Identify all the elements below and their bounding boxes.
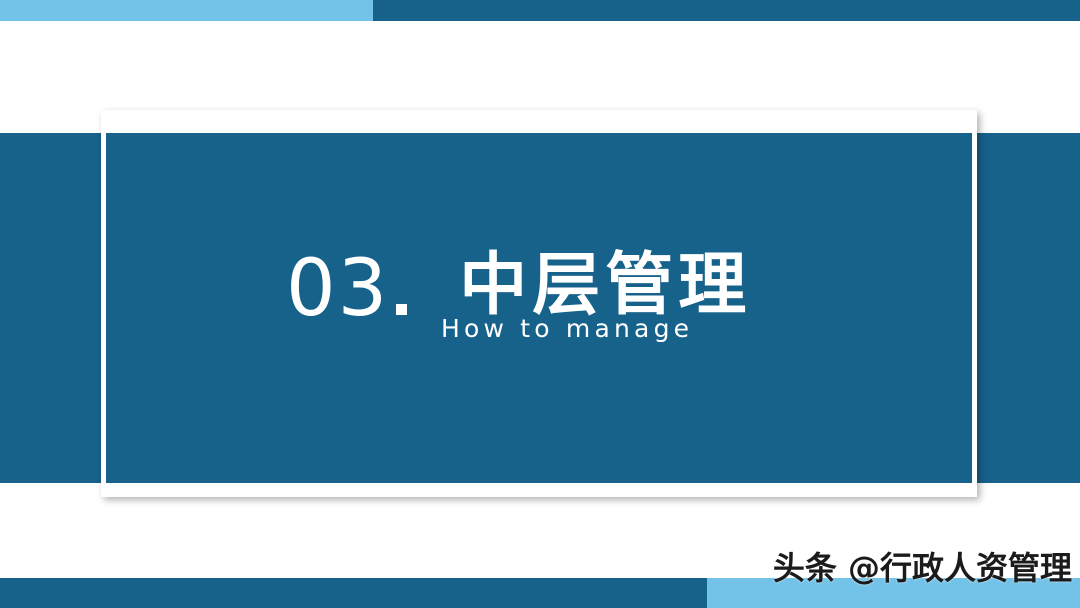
bottom-bar-dark-segment	[0, 578, 707, 608]
top-bar-light-segment	[0, 0, 373, 21]
section-outline-frame	[101, 110, 977, 497]
top-decor-bar	[0, 0, 1080, 21]
slide-canvas: 03 中层管理 How to manage 头条 @行政人资管理	[0, 0, 1080, 608]
watermark-text: 头条 @行政人资管理	[773, 552, 1072, 584]
top-bar-dark-segment	[373, 0, 1080, 21]
